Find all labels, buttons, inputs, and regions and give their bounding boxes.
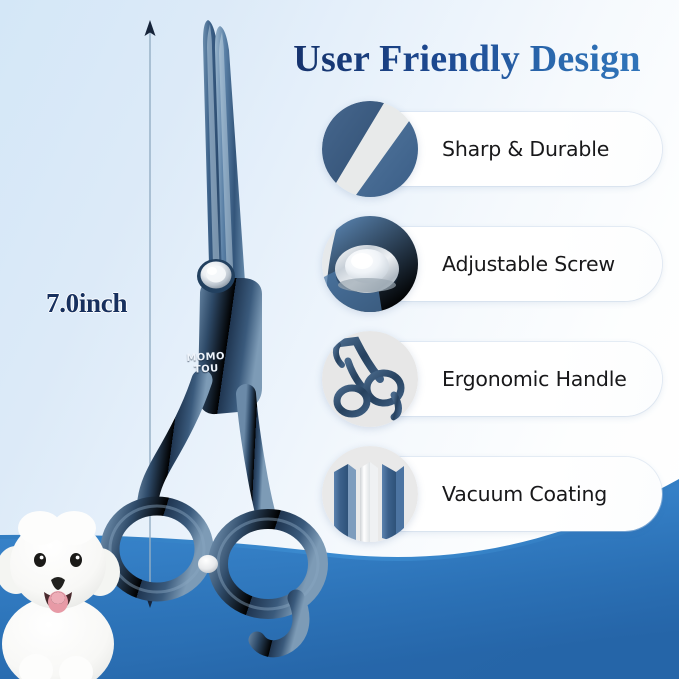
feature-label: Adjustable Screw xyxy=(442,252,615,276)
feature-label: Vacuum Coating xyxy=(442,482,607,506)
dog-photo xyxy=(0,492,124,679)
feature-label: Ergonomic Handle xyxy=(442,367,627,391)
screw-photo-icon xyxy=(322,216,418,312)
feature-label: Sharp & Durable xyxy=(442,137,609,161)
feature-list: Sharp & Durable xyxy=(322,106,662,537)
infographic-canvas: User Friendly Design 7.0inch xyxy=(0,0,679,679)
feature-card-vacuum-coating[interactable]: Vacuum Coating xyxy=(322,451,662,537)
feature-card-adjustable-screw[interactable]: Adjustable Screw xyxy=(322,221,662,307)
handle-rings-icon xyxy=(322,331,418,427)
blade-edge-icon xyxy=(322,101,418,197)
feature-card-ergonomic-handle[interactable]: Ergonomic Handle xyxy=(322,336,662,422)
coated-blades-icon xyxy=(322,446,418,542)
feature-card-sharp-durable[interactable]: Sharp & Durable xyxy=(322,106,662,192)
